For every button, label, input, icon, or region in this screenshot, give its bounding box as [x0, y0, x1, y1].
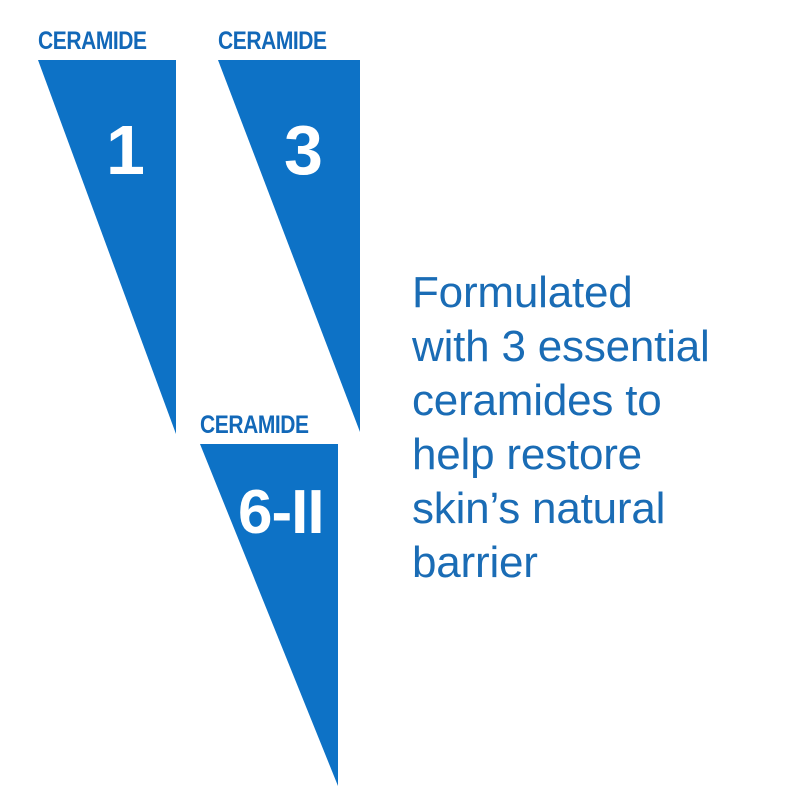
ceramide-wedge-3: 6-II	[200, 444, 340, 786]
marketing-copy: Formulated with 3 essential ceramides to…	[412, 266, 772, 590]
ceramide-infographic: CERAMIDE 1 CERAMIDE 3 CERAMIDE 6-II Form…	[0, 0, 800, 800]
ceramide-wedge-2: 3	[218, 60, 362, 432]
copy-line: ceramides to	[412, 374, 772, 428]
copy-line: Formulated	[412, 266, 772, 320]
ceramide-label-3: CERAMIDE	[200, 412, 309, 438]
copy-line: with 3 essential	[412, 320, 772, 374]
copy-line: barrier	[412, 536, 772, 590]
ceramide-number-3: 6-II	[238, 482, 324, 544]
ceramide-number-2: 3	[284, 115, 323, 185]
ceramide-wedge-1: 1	[38, 60, 178, 434]
copy-line: skin’s natural	[412, 482, 772, 536]
copy-line: help restore	[412, 428, 772, 482]
ceramide-label-1: CERAMIDE	[38, 28, 147, 54]
ceramide-label-2: CERAMIDE	[218, 28, 327, 54]
ceramide-number-1: 1	[106, 115, 145, 185]
